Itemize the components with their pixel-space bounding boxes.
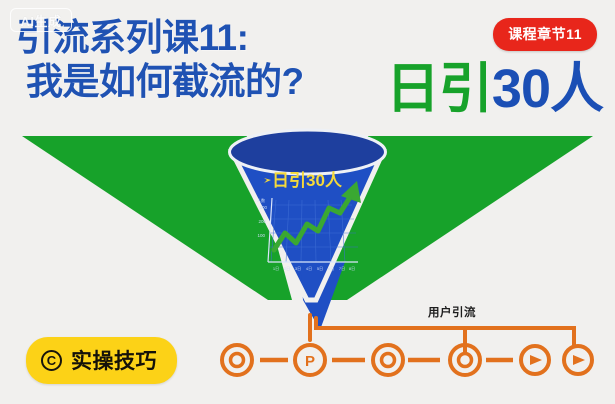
flow-node-2-glyph: P [305, 353, 315, 370]
claim-blue-text: 30人 [492, 59, 603, 119]
svg-text:7日: 7日 [339, 266, 345, 271]
chapter-badge[interactable]: 课程章节11 [493, 18, 597, 51]
funnel-label: 日引30人 [272, 171, 343, 190]
flow-node-5[interactable] [521, 346, 549, 374]
flow-node-6-play-icon [573, 355, 585, 365]
ai-watermark-icon: AI生成 [10, 8, 72, 32]
flow-node-5-play-icon [530, 355, 542, 365]
poster-canvas: 人数 300 200 100 1日 2日 3日 4日 5日 6日 7日 8日 日… [0, 0, 615, 404]
tips-badge[interactable]: C 实操技巧 [26, 337, 177, 384]
svg-text:5日: 5日 [317, 266, 323, 271]
svg-text:2日: 2日 [284, 266, 290, 271]
copyright-icon: C [41, 350, 62, 371]
chart-ytick-100: 100 [257, 233, 265, 238]
svg-text:4日: 4日 [306, 266, 312, 271]
claim-headline: 日引30人 [386, 62, 603, 116]
svg-text:1日: 1日 [273, 266, 279, 271]
chart-ytick-300: 300 [259, 205, 267, 210]
flow-node-2[interactable]: P [295, 345, 325, 375]
flow-node-1[interactable] [222, 345, 252, 375]
chart-ylabel: 人数 [257, 197, 265, 203]
chart-ytick-200: 200 [258, 219, 266, 224]
funnel-label-group: 日引30人 [264, 171, 343, 190]
claim-green-text: 日引 [386, 59, 492, 119]
flow-node-6[interactable] [564, 346, 592, 374]
svg-text:3日: 3日 [295, 266, 301, 271]
tips-badge-label: 实操技巧 [71, 345, 157, 375]
svg-text:6日: 6日 [328, 266, 334, 271]
funnel-rim [230, 130, 386, 174]
svg-text:8日: 8日 [349, 266, 355, 271]
headline-line-2: 我是如何截流的? [16, 62, 304, 102]
flow-label: 用户引流 [428, 304, 476, 320]
flow-node-3[interactable] [373, 345, 403, 375]
